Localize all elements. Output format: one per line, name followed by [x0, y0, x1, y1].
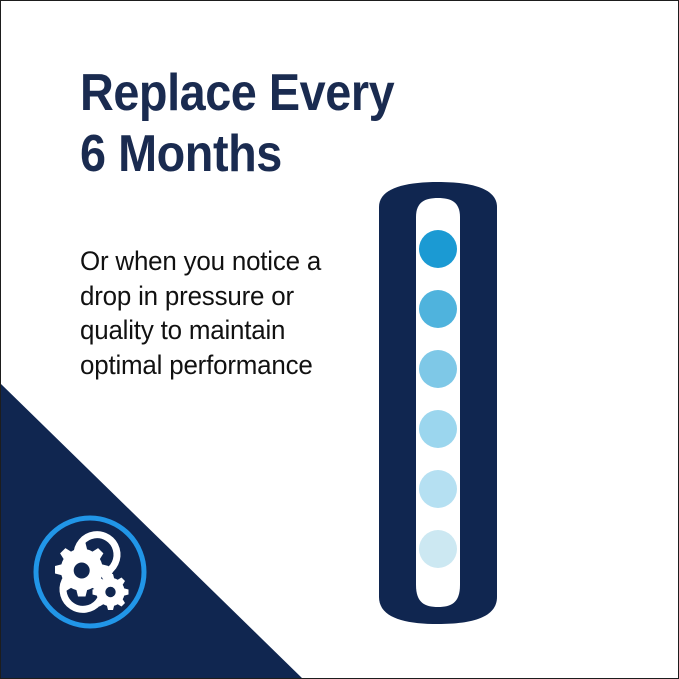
headline-line-1: Replace Every [80, 63, 350, 124]
filter-dot-2 [419, 290, 457, 328]
subtext-line-3: quality to maintain [80, 313, 349, 348]
filter-dot-1 [419, 230, 457, 268]
filter-dot-6 [419, 530, 457, 568]
subtext-line-1: Or when you notice a [80, 244, 349, 279]
headline-block: Replace Every 6 Months [80, 63, 380, 186]
filter-dot-3 [419, 350, 457, 388]
filter-dot-5 [419, 470, 457, 508]
infographic-canvas: Replace Every 6 Months Or when you notic… [0, 0, 679, 679]
maintenance-cycle-badge [29, 511, 151, 633]
headline-line-2: 6 Months [80, 124, 350, 185]
subtext-block: Or when you notice a drop in pressure or… [80, 244, 349, 382]
small-gear-icon [93, 574, 129, 610]
page-title: Replace Every 6 Months [80, 63, 350, 186]
water-filter-cartridge [373, 179, 503, 629]
filter-dot-4 [419, 410, 457, 448]
small-gear-hub [105, 587, 115, 597]
large-gear-hub [74, 563, 90, 579]
subtext-line-2: drop in pressure or [80, 279, 349, 314]
subtext-line-4: optimal performance [80, 348, 349, 383]
